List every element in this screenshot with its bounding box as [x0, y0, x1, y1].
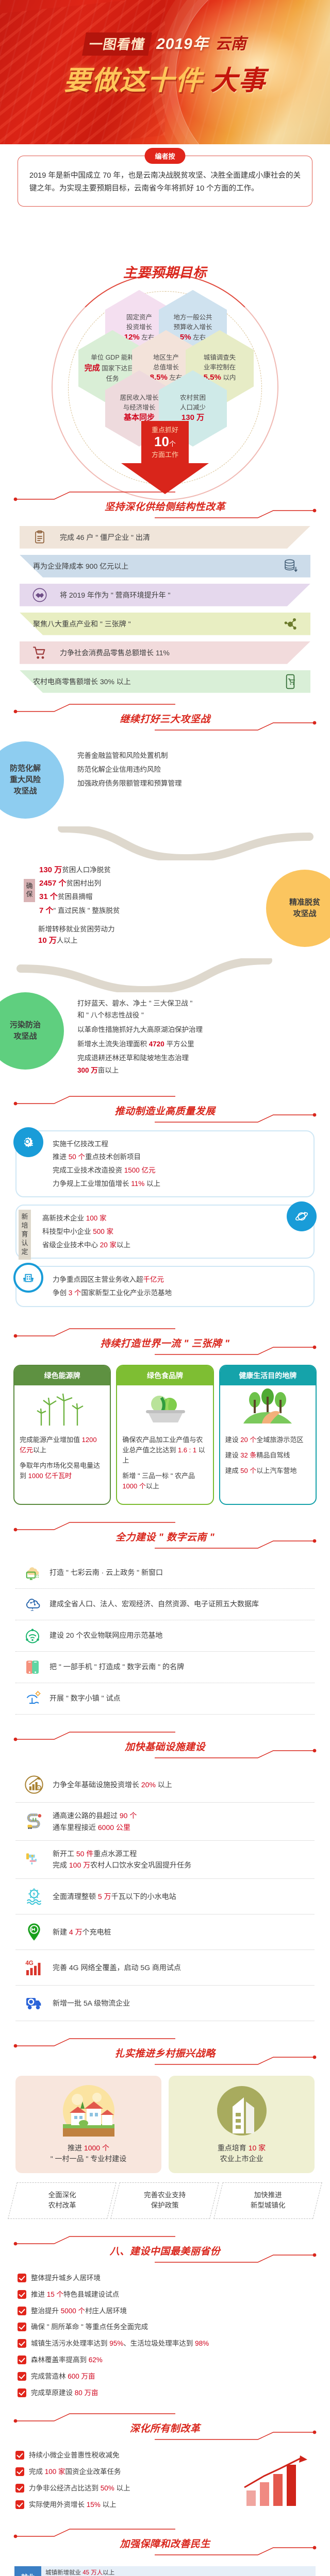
beautiful-item-2: 推进 15 个特色县城建设试点: [18, 2289, 312, 2301]
network-node-icon: [270, 616, 310, 632]
reform-item-text: 完成 100 家国资企业改革任务: [29, 2466, 121, 2478]
clipboard-icon: [20, 529, 60, 546]
ownership-reform-list: 持续小微企业普惠性税收减免 完成 100 家国资企业改革任务 力争非公经济占比达…: [15, 2450, 232, 2516]
digital-row-text: 开展 " 数字小镇 " 试点: [49, 1693, 121, 1704]
arrow-head: [121, 463, 209, 494]
editor-note-text: 2019 年是新中国成立 70 年，也是云南决战脱贫攻坚、决胜全面建成小康社会的…: [29, 170, 301, 196]
infra-row-5: 新建 4 万个充电桩: [15, 1914, 315, 1950]
forest-hill-icon: [220, 1385, 316, 1433]
infra-row-text: 新增一批 5A 级物流企业: [53, 1997, 130, 2009]
main-targets-section: 主要预期目标 固定资产投资增长12% 左右 地方一般公共预算收入增长5% 左右 …: [0, 213, 330, 481]
supply-banner-3: 将 2019 年作为 " 营商环境提升年 ": [20, 584, 310, 606]
brand-card-line: 建设 20 个全域旅游示范区: [225, 1435, 310, 1445]
svg-text:4G: 4G: [25, 1960, 34, 1967]
mfg-line: 推进 50 个重点技术创新项目: [53, 1150, 306, 1164]
arrow-count: 10个: [154, 434, 176, 449]
brand-card-title: 绿色能源牌: [14, 1366, 110, 1385]
brand-card-title: 绿色食品牌: [117, 1366, 212, 1385]
building-one-icon: [174, 2083, 309, 2139]
digital-town-icon: [15, 1689, 49, 1708]
beautiful-item-text: 完成草原建设 80 万亩: [31, 2387, 98, 2399]
beautiful-item-4: 确保 " 厕所革命 " 等重点任务全面完成: [18, 2321, 312, 2333]
wifi-iot-icon: [15, 1626, 49, 1645]
reform-item-2: 完成 100 家国资企业改革任务: [15, 2466, 232, 2478]
battle-risk-prevention: 防范化解重大风险攻坚战 完善金融监管和风险处置机制防范化解企业信用违约风险加强政…: [0, 741, 330, 826]
digital-row-3: 建设 20 个农业物联网应用示范基地: [15, 1620, 315, 1652]
brand-card-line: 建设 32 条精品自驾线: [225, 1450, 310, 1461]
brand-card-line: 新增 " 三品一标 " 农产品 1000 个以上: [122, 1471, 207, 1492]
battle-line: 130 万贫困人口净脱贫: [39, 863, 120, 877]
digital-row-1: 打造 " 七彩云南 · 云上政务 " 新窗口: [15, 1557, 315, 1589]
supply-banner-text: 将 2019 年作为 " 营商环境提升年 ": [60, 590, 171, 600]
supply-banner-5: 力争社会消费品零售总额增长 11%: [20, 641, 310, 664]
reform-item-text: 实际使用外资增长 15% 以上: [29, 2499, 117, 2511]
livelihood-category: 就业: [14, 2566, 41, 2576]
beautiful-item-6: 森林覆盖率提高到 62%: [18, 2354, 312, 2366]
hero-province: 云南: [215, 31, 246, 54]
highway-icon: [15, 1811, 53, 1832]
ensure-label: 确保: [24, 879, 35, 902]
livelihood-values: 城镇新增就业 45 万人以上全省城镇登记失业率控制在 4% 以内: [41, 2566, 316, 2576]
livelihood-line: 城镇新增就业 45 万人以上: [45, 2569, 311, 2576]
supply-side-banner-list: 完成 46 户 " 僵尸企业 " 出清 再为企业降成本 900 亿元以上 将 2…: [0, 526, 330, 693]
mfg-vertical-tag: 新培育认定: [19, 1210, 31, 1259]
section-title-4: 持续打造世界一流 " 三张牌 ": [0, 1336, 330, 1350]
check-icon: [18, 2274, 26, 2282]
hero-title-line1: 一图看懂 2019年 云南: [84, 31, 246, 56]
gear-industry-icon: [13, 1127, 43, 1157]
supply-banner-text: 农村电商零售额增长 30% 以上: [20, 676, 131, 687]
section-header-10: 加强保障和改善民生: [0, 2525, 330, 2563]
battle-line: 完善金融监管和风险处置机制: [77, 749, 320, 762]
targets-down-arrow: 重点抓好 10个 方面工作: [121, 421, 209, 494]
logistics-truck-icon: [15, 1993, 53, 2013]
mfg-card-2: 新培育认定 高新技术企业 100 家科技型中小企业 500 家省级企业技术中心 …: [15, 1205, 315, 1259]
reform-item-text: 持续小微企业普惠性税收减免: [29, 2450, 120, 2462]
digital-row-text: 建设 20 个农业物联网应用示范基地: [49, 1630, 162, 1641]
brand-card-line: 建成 50 个以上汽车营地: [225, 1466, 310, 1476]
three-battles-section: 防范化解重大风险攻坚战 完善金融监管和风险处置机制防范化解企业信用违约风险加强政…: [0, 738, 330, 1085]
battle-bubble-risk: 防范化解重大风险攻坚战: [0, 741, 64, 819]
infographic-page: 一图看懂 2019年 云南 要做这十件 大事 编者按 2019 年是新中国成立 …: [0, 0, 330, 2576]
battle-line: 完成退耕还林还草和陡坡地生态治理300 万亩以上: [77, 1052, 322, 1076]
infra-row-text: 新建 4 万个充电桩: [53, 1926, 111, 1938]
check-icon: [18, 2339, 26, 2348]
digital-yunnan-list: 打造 " 七彩云南 · 云上政务 " 新窗口 建成全省人口、法人、宏观经济、自然…: [0, 1556, 330, 1715]
battle-risk-list: 完善金融监管和风险处置机制防范化解企业信用违约风险加强政府债务限额管理和预算管理: [77, 741, 330, 790]
infra-row-text: 全面清理整顿 5 万千瓦以下的小水电站: [53, 1891, 176, 1902]
editor-note-zone: 编者按 2019 年是新中国成立 70 年，也是云南决战脱贫攻坚、决胜全面建成小…: [0, 144, 330, 211]
digital-row-5: 开展 " 数字小镇 " 试点: [15, 1683, 315, 1715]
section-title-6: 加快基础设施建设: [0, 1739, 330, 1753]
rural-parallelogram-2: 完善农业支持保护政策: [111, 2182, 220, 2219]
digital-row-2: 建成全省人口、法人、宏观经济、自然资源、电子证照五大数据库: [15, 1589, 315, 1620]
hero-headline-main: 要做这十件: [64, 59, 203, 97]
battle-line: 31 个贫困县摘帽: [39, 890, 120, 904]
battle-pollution-list: 打好蓝天、碧水、净土 " 三大保卫战 "和 " 八个标志性战役 "以革命性措施抓…: [77, 992, 330, 1077]
supply-banner-6: 农村电商零售额增长 30% 以上: [20, 670, 310, 693]
rural-parallelogram-text: 全面深化农村改革: [15, 2190, 109, 2211]
battle-bubble-pollution: 污染防治攻坚战: [0, 992, 64, 1070]
check-icon: [18, 2355, 26, 2364]
charging-pin-icon: [15, 1922, 53, 1942]
infra-row-3: 新开工 50 件重点水源工程完成 100 万农村人口饮水安全巩固提升任务: [15, 1841, 315, 1879]
digital-row-4: 把 " 一部手机 " 打造成 " 数字云南 " 的名牌: [15, 1652, 315, 1683]
livelihood-table: 就业 城镇新增就业 45 万人以上全省城镇登记失业率控制在 4% 以内 教育 新…: [0, 2563, 330, 2576]
beautiful-item-text: 推进 15 个特色县城建设试点: [31, 2289, 119, 2301]
battle-line: 打好蓝天、碧水、净土 " 三大保卫战 "和 " 八个标志性战役 ": [77, 997, 322, 1022]
factory-building-icon: [13, 1263, 43, 1293]
infra-row-1: ¥ 力争全年基础设施投资增长 20% 以上: [15, 1767, 315, 1803]
infra-row-2: 通高速公路的县超过 90 个通车里程接近 6000 公里: [15, 1803, 315, 1841]
brand-card-line: 完成能源产业增加值 1200 亿元以上: [20, 1435, 105, 1455]
check-icon: [18, 2372, 26, 2381]
mfg-line: 力争重点园区主营业务收入超千亿元: [53, 1273, 306, 1286]
battle-line: 防范化解企业信用违约风险: [77, 762, 320, 776]
section-title-7: 扎实推进乡村振兴战略: [0, 2046, 330, 2060]
beautiful-item-3: 整治提升 5000 个村庄人居环境: [18, 2306, 312, 2317]
section-header-7: 扎实推进乡村振兴战略: [0, 2035, 330, 2073]
digital-row-text: 把 " 一部手机 " 打造成 " 数字云南 " 的名牌: [49, 1662, 184, 1673]
editor-note-box: 编者按 2019 年是新中国成立 70 年，也是云南决战脱贫攻坚、决胜全面建成小…: [18, 156, 312, 207]
mfg-card-body: 高新技术企业 100 家科技型中小企业 500 家省级企业技术中心 20 家以上: [15, 1205, 315, 1259]
supply-banner-text: 力争社会消费品零售总额增长 11%: [60, 648, 170, 658]
section-title-1: 坚持深化供给侧结构性改革: [0, 499, 330, 513]
section-title-8: 八、建设中国最美丽省份: [0, 2244, 330, 2258]
check-icon: [18, 2290, 26, 2299]
rural-card-text: 推进 1000 个" 一村一品 " 专业村建设: [21, 2143, 156, 2165]
three-brand-cards: 绿色能源牌 完成能源产业增加值 1200 亿元以上争取年内市场化交易电量达到 1…: [0, 1363, 330, 1505]
mfg-line: 力争规上工业增加值增长 11% 以上: [53, 1177, 306, 1191]
beautiful-item-text: 整体提升城乡人居环境: [31, 2273, 101, 2284]
mfg-card-body: 实施千亿技改工程推进 50 个重点技术创新项目完成工业技术改造投资 1500 亿…: [15, 1130, 315, 1198]
connector-wave-2: [0, 958, 330, 992]
handshake-icon: [20, 587, 60, 603]
arrow-label-top: 重点抓好: [152, 425, 178, 434]
battle-line: 新增水土流失治理面积 4720 平方公里: [77, 1038, 322, 1050]
beautiful-item-8: 完成草原建设 80 万亩: [18, 2387, 312, 2399]
rural-parallelogram-text: 完善农业支持保护政策: [118, 2190, 212, 2211]
brand-card-line: 确保农产品加工业产值与农业总产值之比达到 1.6 : 1 以上: [122, 1435, 207, 1466]
reform-item-text: 力争非公经济占比达到 50% 以上: [29, 2483, 130, 2495]
section-header-9: 深化所有制改革: [0, 2410, 330, 2448]
salad-bowl-icon: [117, 1385, 212, 1433]
check-icon: [15, 2500, 24, 2509]
brand-card-title: 健康生活目的地牌: [220, 1366, 316, 1385]
hero-year: 2019年: [156, 31, 209, 54]
check-icon: [18, 2323, 26, 2331]
brand-card-1: 绿色能源牌 完成能源产业增加值 1200 亿元以上争取年内市场化交易电量达到 1…: [13, 1365, 111, 1505]
hero-title-group: 一图看懂 2019年 云南 要做这十件 大事: [0, 31, 330, 97]
section-header-3: 推动制造业高质量发展: [0, 1092, 330, 1130]
supply-banner-text: 完成 46 户 " 僵尸企业 " 出清: [60, 532, 150, 543]
section-title-2: 继续打好三大攻坚战: [0, 711, 330, 725]
beautiful-item-text: 整治提升 5000 个村庄人居环境: [31, 2306, 127, 2317]
section-title-5: 全力建设 " 数字云南 ": [0, 1530, 330, 1544]
hero-banner: 一图看懂 2019年 云南 要做这十件 大事: [0, 0, 330, 144]
rural-card-2: 重点培育 10 家农业上市企业: [169, 2076, 315, 2173]
connector-wave-1: [0, 826, 330, 860]
battle-pollution-control: 污染防治攻坚战 打好蓝天、碧水、净土 " 三大保卫战 "和 " 八个标志性战役 …: [0, 992, 330, 1085]
infra-row-text: 通高速公路的县超过 90 个通车里程接近 6000 公里: [53, 1810, 137, 1833]
hero-headline-accent: 大事: [210, 59, 266, 97]
section-title-10: 加强保障和改善民生: [0, 2536, 330, 2550]
section-header-2: 继续打好三大攻坚战: [0, 700, 330, 738]
supply-banner-4: 聚焦八大重点产业和 " 三张牌 ": [20, 613, 310, 635]
hydro-power-icon: [15, 1886, 53, 1907]
brand-card-text: 确保农产品加工业产值与农业总产值之比达到 1.6 : 1 以上新增 " 三品一标…: [117, 1433, 212, 1504]
rural-parallelogram-row: 全面深化农村改革完善农业支持保护政策加快推进新型城镇化: [0, 2173, 330, 2219]
section-header-4: 持续打造世界一流 " 三张牌 ": [0, 1325, 330, 1363]
battle-line: 7 个" 直过民族 " 整族脱贫: [39, 904, 120, 918]
hero-badge: 一图看懂: [82, 32, 152, 56]
planet-orbit-icon: [287, 1201, 317, 1231]
infra-row-4: 全面清理整顿 5 万千瓦以下的小水电站: [15, 1879, 315, 1914]
infrastructure-list: ¥ 力争全年基础设施投资增长 20% 以上 通高速公路的县超过 90 个通车里程…: [0, 1766, 330, 2021]
infra-row-text: 完善 4G 网络全覆盖，启动 5G 商用试点: [53, 1962, 181, 1973]
mfg-line: 省级企业技术中心 20 家以上: [42, 1239, 277, 1252]
infra-row-text: 新开工 50 件重点水源工程完成 100 万农村人口饮水安全巩固提升任务: [53, 1848, 191, 1871]
supply-banner-2: 再为企业降成本 900 亿元以上: [20, 555, 310, 578]
battle-line: 加强政府债务限额管理和预算管理: [77, 776, 320, 790]
wind-turbines-icon: [14, 1385, 110, 1433]
mfg-card-1: 实施千亿技改工程推进 50 个重点技术创新项目完成工业技术改造投资 1500 亿…: [15, 1130, 315, 1198]
brand-card-line: 争取年内市场化交易电量达到 1000 亿千瓦时: [20, 1461, 105, 1481]
shopping-cart-icon: [20, 645, 60, 661]
beautiful-item-text: 城镇生活污水处理率达到 95%、生活垃圾处理率达到 98%: [31, 2338, 209, 2350]
battle-poverty-list: 130 万贫困人口净脱贫2457 个贫困村出列31 个贫困县摘帽7 个" 直过民…: [39, 863, 120, 918]
arrow-body: 重点抓好 10个 方面工作: [141, 421, 189, 463]
check-icon: [15, 2451, 24, 2460]
livelihood-row-1: 就业 城镇新增就业 45 万人以上全省城镇登记失业率控制在 4% 以内: [14, 2566, 316, 2576]
infra-row-6: 4G 完善 4G 网络全覆盖，启动 5G 商用试点: [15, 1950, 315, 1986]
rural-card-1: 推进 1000 个" 一村一品 " 专业村建设: [15, 2076, 161, 2173]
brand-card-3: 健康生活目的地牌 建设 20 个全域旅游示范区建设 32 条精品自驾线建成 50…: [219, 1365, 317, 1505]
village-houses-icon: [21, 2083, 156, 2139]
cloud-monitor-icon: [15, 1564, 49, 1582]
check-icon: [15, 2484, 24, 2493]
supply-banner-1: 完成 46 户 " 僵尸企业 " 出清: [20, 526, 310, 549]
mfg-line: 实施千亿技改工程: [53, 1138, 306, 1151]
beautiful-item-1: 整体提升城乡人居环境: [18, 2273, 312, 2284]
mfg-line: 完成工业技术改造投资 1500 亿元: [53, 1164, 306, 1177]
check-icon: [15, 2467, 24, 2476]
rural-parallelogram-1: 全面深化农村改革: [8, 2182, 117, 2219]
infra-row-7: 新增一批 5A 级物流企业: [15, 1986, 315, 2021]
beautiful-item-text: 森林覆盖率提高到 62%: [31, 2354, 103, 2366]
manufacturing-section: 实施千亿技改工程推进 50 个重点技术创新项目完成工业技术改造投资 1500 亿…: [0, 1130, 330, 1317]
section-header-8: 八、建设中国最美丽省份: [0, 2232, 330, 2270]
brand-card-2: 绿色食品牌 确保农产品加工业产值与农业总产值之比达到 1.6 : 1 以上新增 …: [116, 1365, 213, 1505]
rural-card-text: 重点培育 10 家农业上市企业: [174, 2143, 309, 2165]
check-icon: [18, 2388, 26, 2397]
rural-parallelogram-3: 加快推进新型城镇化: [213, 2182, 322, 2219]
check-icon: [18, 2307, 26, 2315]
growth-chart-icon: ¥: [15, 1774, 53, 1795]
cloud-data-icon: [15, 1595, 49, 1614]
mfg-line: 高新技术企业 100 家: [42, 1212, 277, 1225]
brand-card-text: 建设 20 个全域旅游示范区建设 32 条精品自驾线建成 50 个以上汽车营地: [220, 1433, 316, 1488]
beautiful-item-text: 确保 " 厕所革命 " 等重点任务全面完成: [31, 2321, 148, 2333]
section-title-9: 深化所有制改革: [0, 2421, 330, 2435]
upward-arrow-chart-icon: [237, 2453, 315, 2513]
brand-card-text: 完成能源产业增加值 1200 亿元以上争取年内市场化交易电量达到 1000 亿千…: [14, 1433, 110, 1494]
digital-row-text: 打造 " 七彩云南 · 云上政务 " 新窗口: [49, 1567, 163, 1579]
main-targets-title: 主要预期目标: [0, 262, 330, 281]
rural-revitalization-cards: 推进 1000 个" 一村一品 " 专业村建设 重点培育 10 家农业上市企业: [0, 2073, 330, 2173]
infra-row-text: 力争全年基础设施投资增长 20% 以上: [53, 1779, 172, 1790]
editor-note-tag: 编者按: [144, 148, 185, 164]
hero-title-line2: 要做这十件 大事: [0, 59, 330, 97]
section-header-6: 加快基础设施建设: [0, 1728, 330, 1766]
supply-banner-text: 聚焦八大重点产业和 " 三张牌 ": [20, 619, 131, 629]
ownership-reform-section: 持续小微企业普惠性税收减免 完成 100 家国资企业改革任务 力争非公经济占比达…: [0, 2448, 330, 2516]
database-down-icon: [270, 558, 310, 574]
beautiful-item-7: 完成营造林 600 万亩: [18, 2371, 312, 2383]
section-title-3: 推动制造业高质量发展: [0, 1104, 330, 1117]
arrow-label-bottom: 方面工作: [152, 449, 178, 459]
water-tap-icon: [15, 1849, 53, 1870]
beautiful-item-5: 城镇生活污水处理率达到 95%、生活垃圾处理率达到 98%: [18, 2338, 312, 2350]
battle-line: 2457 个贫困村出列: [39, 877, 120, 890]
supply-banner-text: 再为企业降成本 900 亿元以上: [20, 561, 128, 571]
battle-poverty-alleviation: 精准脱贫攻坚战 确保 130 万贫困人口净脱贫2457 个贫困村出列31 个贫困…: [0, 860, 330, 958]
mfg-card-body: 力争重点园区主营业务收入超千亿元争创 3 个国家新型工业化产业示范基地: [15, 1266, 315, 1307]
signal-4g-icon: 4G: [15, 1957, 53, 1978]
section-header-5: 全力建设 " 数字云南 ": [0, 1518, 330, 1556]
rural-parallelogram-text: 加快推进新型城镇化: [221, 2190, 315, 2211]
beautiful-province-checklist: 整体提升城乡人居环境 推进 15 个特色县城建设试点 整治提升 5000 个村庄…: [0, 2270, 330, 2400]
reform-item-3: 力争非公经济占比达到 50% 以上: [15, 2483, 232, 2495]
mfg-line: 争创 3 个国家新型工业化产业示范基地: [53, 1286, 306, 1300]
digital-row-text: 建成全省人口、法人、宏观经济、自然资源、电子证照五大数据库: [49, 1599, 259, 1610]
mobile-commerce-icon: [270, 673, 310, 690]
two-phones-icon: [15, 1658, 49, 1676]
beautiful-item-text: 完成营造林 600 万亩: [31, 2371, 95, 2383]
reform-item-1: 持续小微企业普惠性税收减免: [15, 2450, 232, 2462]
battle-line: 以革命性措施抓好九大高原湖泊保护治理: [77, 1024, 322, 1036]
mfg-line: 科技型中小企业 500 家: [42, 1225, 277, 1239]
reform-item-4: 实际使用外资增长 15% 以上: [15, 2499, 232, 2511]
mfg-card-3: 力争重点园区主营业务收入超千亿元争创 3 个国家新型工业化产业示范基地: [15, 1266, 315, 1307]
